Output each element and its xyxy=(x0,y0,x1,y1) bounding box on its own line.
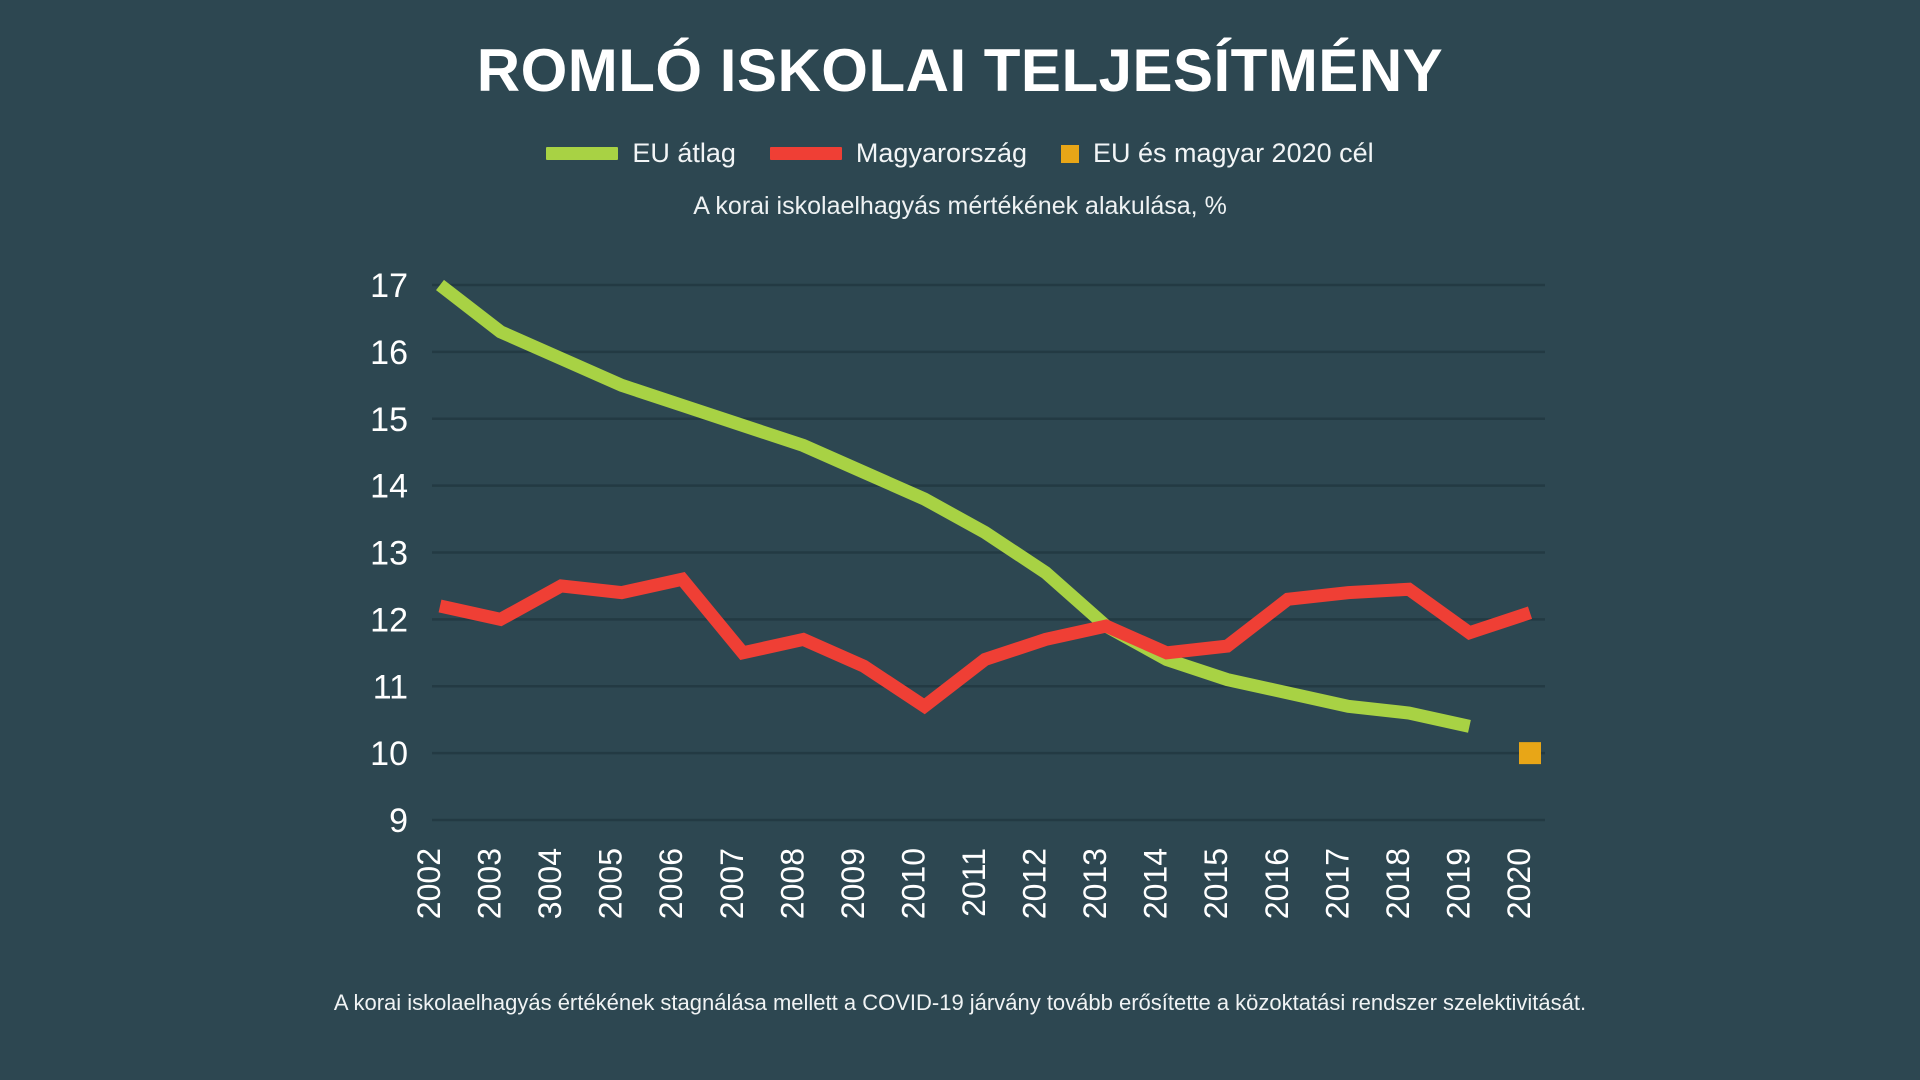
y-axis-tick-label: 9 xyxy=(389,802,408,840)
y-axis-tick-labels: 91011121314151617 xyxy=(370,267,408,840)
x-axis-tick-labels: 2002200330042005200620072008200920102011… xyxy=(411,848,1537,919)
y-axis-tick-label: 14 xyxy=(370,468,408,506)
y-axis-tick-label: 12 xyxy=(370,601,408,639)
x-axis-tick-label: 2012 xyxy=(1017,848,1053,919)
x-axis-tick-label: 2008 xyxy=(774,848,810,919)
data-series-group xyxy=(440,285,1541,764)
x-axis-tick-label: 2020 xyxy=(1501,848,1537,919)
y-axis-tick-label: 16 xyxy=(370,334,408,372)
x-axis-tick-label: 2007 xyxy=(714,848,750,919)
chart-footnote: A korai iskolaelhagyás értékének stagnál… xyxy=(0,990,1920,1016)
x-axis-tick-label: 2002 xyxy=(411,848,447,919)
y-axis-tick-label: 11 xyxy=(373,668,408,706)
x-axis-tick-label: 2011 xyxy=(956,848,992,917)
x-axis-tick-label: 2016 xyxy=(1259,848,1295,919)
x-axis-tick-label: 2009 xyxy=(835,848,871,919)
y-axis-tick-label: 10 xyxy=(370,735,408,773)
x-axis-tick-label: 2019 xyxy=(1440,848,1476,919)
x-axis-tick-label: 2014 xyxy=(1138,848,1174,919)
x-axis-tick-label: 2018 xyxy=(1380,848,1416,919)
gridlines xyxy=(432,285,1545,820)
line-chart-svg: 91011121314151617 2002200330042005200620… xyxy=(0,0,1920,1080)
x-axis-tick-label: 3004 xyxy=(532,848,568,919)
x-axis-tick-label: 2010 xyxy=(895,848,931,919)
x-axis-tick-label: 2015 xyxy=(1198,848,1234,919)
y-axis-tick-label: 15 xyxy=(370,401,408,439)
x-axis-tick-label: 2003 xyxy=(472,848,508,919)
x-axis-tick-label: 2006 xyxy=(653,848,689,919)
x-axis-tick-label: 2017 xyxy=(1319,848,1355,919)
plot-area: 91011121314151617 2002200330042005200620… xyxy=(0,0,1920,1080)
y-axis-tick-label: 17 xyxy=(370,267,408,305)
x-axis-tick-label: 2005 xyxy=(593,848,629,919)
x-axis-tick-label: 2013 xyxy=(1077,848,1113,919)
target-marker xyxy=(1519,742,1541,764)
chart-page: ROMLÓ ISKOLAI TELJESÍTMÉNY EU átlag Magy… xyxy=(0,0,1920,1080)
y-axis-tick-label: 13 xyxy=(370,535,408,573)
